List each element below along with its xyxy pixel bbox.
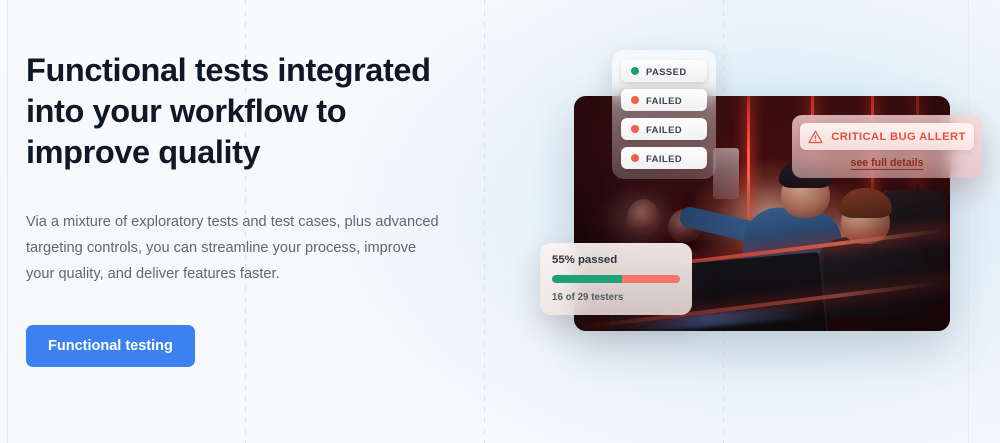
grid-line-left: [7, 0, 8, 443]
pass-rate-title: 55% passed: [552, 254, 680, 266]
status-dot-icon: [631, 96, 639, 104]
status-badge-label: FAILED: [646, 153, 682, 164]
status-badge[interactable]: FAILED: [621, 118, 707, 140]
status-dot-icon: [631, 67, 639, 75]
test-status-panel: PASSED FAILED FAILED FAILED: [612, 50, 716, 179]
status-badge[interactable]: PASSED: [621, 60, 707, 82]
hero-section: Functional tests integrated into your wo…: [0, 0, 1000, 443]
status-badge-label: FAILED: [646, 95, 682, 106]
status-badge-label: FAILED: [646, 124, 682, 135]
pass-rate-bar-fill: [552, 275, 622, 283]
status-badge-label: PASSED: [646, 66, 687, 77]
status-badge[interactable]: FAILED: [621, 89, 707, 111]
pass-rate-card: 55% passed 16 of 29 testers: [540, 243, 692, 315]
hero-copy: Functional tests integrated into your wo…: [26, 50, 456, 367]
critical-bug-alert-banner[interactable]: CRITICAL BUG ALLERT: [800, 123, 974, 150]
status-dot-icon: [631, 125, 639, 133]
status-badge[interactable]: FAILED: [621, 147, 707, 169]
functional-testing-button[interactable]: Functional testing: [26, 325, 195, 367]
status-dot-icon: [631, 154, 639, 162]
page-title: Functional tests integrated into your wo…: [26, 50, 456, 173]
critical-bug-alert-label: CRITICAL BUG ALLERT: [831, 131, 965, 143]
hero-visual: PASSED FAILED FAILED FAILED: [470, 0, 1000, 443]
critical-bug-alert-card: CRITICAL BUG ALLERT see full details: [792, 115, 982, 178]
warning-triangle-icon: [808, 130, 823, 144]
pass-rate-subtitle: 16 of 29 testers: [552, 292, 680, 303]
hero-description: Via a mixture of exploratory tests and t…: [26, 209, 446, 287]
see-full-details-link[interactable]: see full details: [800, 157, 974, 169]
pass-rate-bar: [552, 275, 680, 283]
